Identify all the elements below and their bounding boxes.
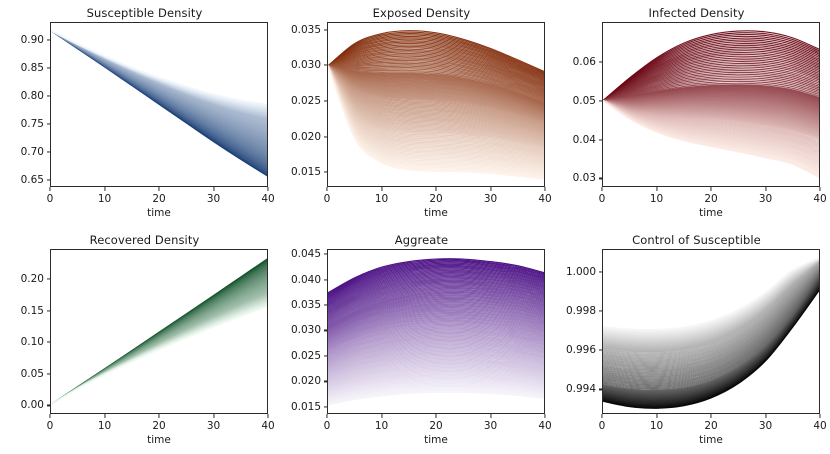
x-tick-label: 20	[429, 193, 442, 205]
y-tick-mark	[324, 304, 328, 305]
x-tick-label: 0	[599, 420, 606, 432]
y-tick-label: 0.025	[291, 95, 321, 107]
x-tick-label: 10	[375, 420, 388, 432]
y-tick-label: 0.020	[291, 131, 321, 143]
chart-panel-1: Susceptible Density0.650.700.750.800.850…	[6, 0, 283, 227]
y-tick-label: 0.015	[291, 166, 321, 178]
x-tick-mark	[710, 187, 711, 191]
y-tick-label: 0.025	[291, 350, 321, 362]
y-tick-mark	[324, 172, 328, 173]
x-axis-label: time	[327, 434, 545, 446]
y-tick-label: 0.04	[573, 134, 596, 146]
axes-frame	[50, 249, 268, 414]
x-tick-mark	[490, 187, 491, 191]
chart-panel-4: Recovered Density0.000.050.100.150.20010…	[6, 227, 283, 454]
x-axis-label: time	[50, 434, 268, 446]
x-tick-label: 20	[152, 193, 165, 205]
trajectory-bundle	[51, 250, 267, 413]
y-tick-mark	[324, 65, 328, 66]
axes-frame	[327, 22, 545, 187]
y-tick-mark	[324, 279, 328, 280]
y-tick-label: 0.015	[291, 401, 321, 413]
y-tick-label: 0.030	[291, 59, 321, 71]
chart-panel-3: Infected Density0.030.040.050.0601020304…	[558, 0, 830, 227]
y-tick-label: 1.000	[566, 266, 596, 278]
axes-frame	[602, 22, 820, 187]
panel-title: Infected Density	[558, 6, 830, 20]
x-tick-mark	[765, 187, 766, 191]
x-tick-label: 40	[813, 193, 826, 205]
x-tick-label: 30	[484, 420, 497, 432]
x-tick-mark	[819, 187, 820, 191]
y-tick-label: 0.030	[291, 324, 321, 336]
y-tick-mark	[47, 124, 51, 125]
y-tick-mark	[324, 29, 328, 30]
y-tick-label: 0.05	[21, 368, 44, 380]
x-tick-label: 30	[484, 193, 497, 205]
trajectory-bundle	[603, 23, 819, 186]
y-tick-mark	[599, 61, 603, 62]
y-tick-mark	[47, 279, 51, 280]
y-tick-mark	[324, 330, 328, 331]
y-tick-mark	[324, 381, 328, 382]
y-tick-label: 0.998	[566, 305, 596, 317]
x-tick-mark	[765, 414, 766, 418]
chart-panel-2: Exposed Density0.0150.0200.0250.0300.035…	[283, 0, 560, 227]
x-tick-label: 30	[759, 193, 772, 205]
x-tick-label: 20	[704, 420, 717, 432]
x-tick-label: 40	[261, 420, 274, 432]
x-tick-label: 10	[375, 193, 388, 205]
y-tick-mark	[324, 100, 328, 101]
panel-title: Aggreate	[283, 233, 560, 247]
x-tick-label: 30	[207, 420, 220, 432]
x-tick-label: 0	[47, 193, 54, 205]
panel-title: Exposed Density	[283, 6, 560, 20]
y-tick-mark	[47, 373, 51, 374]
y-tick-mark	[599, 350, 603, 351]
x-tick-mark	[544, 187, 545, 191]
x-tick-mark	[49, 414, 50, 418]
y-tick-label: 0.80	[21, 90, 44, 102]
x-tick-label: 10	[650, 420, 663, 432]
plot-area: 0.650.700.750.800.850.90010203040time	[50, 22, 268, 187]
x-tick-label: 20	[152, 420, 165, 432]
y-tick-label: 0.70	[21, 146, 44, 158]
y-tick-mark	[324, 254, 328, 255]
y-tick-label: 0.06	[573, 56, 596, 68]
y-tick-label: 0.996	[566, 344, 596, 356]
x-tick-mark	[435, 187, 436, 191]
y-tick-mark	[599, 389, 603, 390]
plot-area: 0.0150.0200.0250.0300.0350.0400.04501020…	[327, 249, 545, 414]
y-tick-label: 0.035	[291, 24, 321, 36]
x-tick-mark	[656, 187, 657, 191]
y-tick-label: 0.994	[566, 383, 596, 395]
x-tick-label: 0	[599, 193, 606, 205]
y-tick-mark	[47, 342, 51, 343]
x-tick-mark	[267, 414, 268, 418]
y-tick-label: 0.035	[291, 299, 321, 311]
x-tick-label: 10	[98, 420, 111, 432]
y-tick-mark	[47, 179, 51, 180]
y-tick-label: 0.040	[291, 274, 321, 286]
x-tick-label: 30	[759, 420, 772, 432]
y-tick-mark	[47, 68, 51, 69]
x-tick-mark	[381, 414, 382, 418]
y-tick-label: 0.85	[21, 62, 44, 74]
y-tick-label: 0.020	[291, 375, 321, 387]
y-tick-label: 0.15	[21, 305, 44, 317]
x-tick-mark	[158, 414, 159, 418]
x-tick-label: 20	[429, 420, 442, 432]
y-tick-mark	[599, 310, 603, 311]
x-axis-label: time	[50, 207, 268, 219]
y-tick-mark	[47, 151, 51, 152]
axes-frame	[602, 249, 820, 414]
trajectory-bundle	[51, 23, 267, 186]
y-tick-label: 0.10	[21, 336, 44, 348]
x-tick-mark	[544, 414, 545, 418]
x-tick-label: 10	[98, 193, 111, 205]
x-tick-label: 0	[324, 420, 331, 432]
y-tick-label: 0.90	[21, 34, 44, 46]
y-tick-mark	[47, 405, 51, 406]
panel-title: Recovered Density	[6, 233, 283, 247]
x-tick-mark	[267, 187, 268, 191]
y-tick-label: 0.045	[291, 248, 321, 260]
figure-canvas: Susceptible Density0.650.700.750.800.850…	[0, 0, 830, 453]
x-tick-mark	[710, 414, 711, 418]
x-tick-mark	[49, 187, 50, 191]
x-axis-label: time	[327, 207, 545, 219]
y-tick-label: 0.05	[573, 95, 596, 107]
x-tick-label: 10	[650, 193, 663, 205]
x-tick-mark	[104, 187, 105, 191]
x-tick-mark	[104, 414, 105, 418]
x-tick-label: 0	[47, 420, 54, 432]
x-tick-mark	[158, 187, 159, 191]
y-tick-label: 0.00	[21, 399, 44, 411]
x-tick-label: 40	[538, 420, 551, 432]
x-tick-label: 40	[261, 193, 274, 205]
x-axis-label: time	[602, 434, 820, 446]
x-tick-mark	[601, 414, 602, 418]
x-tick-mark	[656, 414, 657, 418]
axes-frame	[327, 249, 545, 414]
y-tick-mark	[599, 100, 603, 101]
x-tick-mark	[213, 187, 214, 191]
y-tick-mark	[47, 40, 51, 41]
axes-frame	[50, 22, 268, 187]
plot-area: 0.9940.9960.9981.000010203040time	[602, 249, 820, 414]
x-tick-mark	[381, 187, 382, 191]
chart-panel-6: Control of Susceptible0.9940.9960.9981.0…	[558, 227, 830, 454]
plot-area: 0.000.050.100.150.20010203040time	[50, 249, 268, 414]
x-tick-mark	[819, 414, 820, 418]
y-tick-mark	[599, 271, 603, 272]
x-tick-label: 0	[324, 193, 331, 205]
y-tick-mark	[324, 355, 328, 356]
y-tick-mark	[599, 178, 603, 179]
x-tick-label: 30	[207, 193, 220, 205]
x-tick-mark	[490, 414, 491, 418]
panel-title: Susceptible Density	[6, 6, 283, 20]
panel-title: Control of Susceptible	[558, 233, 830, 247]
x-tick-label: 20	[704, 193, 717, 205]
y-tick-label: 0.03	[573, 172, 596, 184]
y-tick-mark	[599, 139, 603, 140]
plot-area: 0.0150.0200.0250.0300.035010203040time	[327, 22, 545, 187]
x-tick-mark	[326, 187, 327, 191]
y-tick-mark	[47, 96, 51, 97]
x-axis-label: time	[602, 207, 820, 219]
x-tick-mark	[213, 414, 214, 418]
trajectory-bundle	[328, 250, 544, 413]
y-tick-mark	[47, 310, 51, 311]
y-tick-label: 0.65	[21, 174, 44, 186]
x-tick-label: 40	[538, 193, 551, 205]
chart-panel-5: Aggreate0.0150.0200.0250.0300.0350.0400.…	[283, 227, 560, 454]
x-tick-mark	[601, 187, 602, 191]
y-tick-label: 0.75	[21, 118, 44, 130]
y-tick-mark	[324, 406, 328, 407]
trajectory-bundle	[328, 23, 544, 186]
y-tick-mark	[324, 136, 328, 137]
x-tick-mark	[326, 414, 327, 418]
x-tick-label: 40	[813, 420, 826, 432]
trajectory-bundle	[603, 250, 819, 413]
plot-area: 0.030.040.050.06010203040time	[602, 22, 820, 187]
x-tick-mark	[435, 414, 436, 418]
y-tick-label: 0.20	[21, 273, 44, 285]
